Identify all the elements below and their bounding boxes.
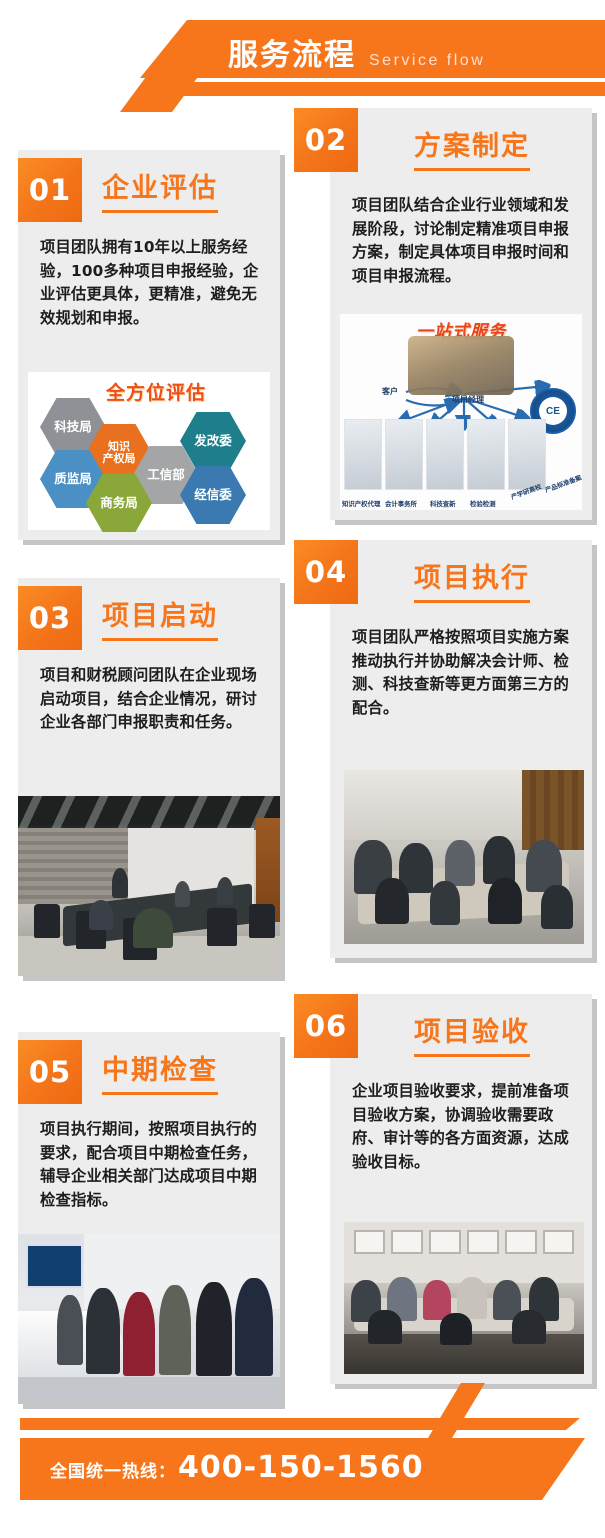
step-card-04[interactable]: 项目执行 项目团队严格按照项目实施方案推动执行并协助解决会计师、检测、科技查新等… bbox=[330, 540, 592, 958]
oss-team-photo bbox=[408, 336, 514, 395]
card-badge-04: 04 bbox=[294, 540, 358, 604]
wall-frames bbox=[354, 1230, 575, 1254]
card-title-06: 项目验收 bbox=[414, 1010, 530, 1057]
oss-label-1: 会计事务所 bbox=[385, 499, 417, 508]
card-body-02: 项目团队结合企业行业领域和发展阶段，讨论制定精准项目申报方案，制定具体项目申报时… bbox=[352, 194, 574, 289]
card-badge-03: 03 bbox=[18, 586, 82, 650]
footer-diagonal-accent bbox=[425, 1383, 590, 1443]
one-stop-service-diagram: 一站式服务 客户 项目经理 CE 知识产权代理 会计事务所 科技查新 检验检测 … bbox=[340, 314, 582, 510]
card-badge-01: 01 bbox=[18, 158, 82, 222]
oss-label-0: 知识产权代理 bbox=[342, 499, 380, 508]
card-body-05: 项目执行期间，按照项目执行的要求，配合项目中期检查任务，辅导企业相关部门达成项目… bbox=[40, 1118, 262, 1213]
conference-table-photo bbox=[344, 770, 584, 944]
card-badge-06: 06 bbox=[294, 994, 358, 1058]
acceptance-meeting-photo bbox=[344, 1222, 584, 1374]
exhibition-booth-photo bbox=[18, 1234, 280, 1404]
card-badge-02: 02 bbox=[294, 108, 358, 172]
page-subtitle: Service flow bbox=[369, 52, 485, 70]
hotline-number[interactable]: 400-150-1560 bbox=[178, 1450, 424, 1485]
card-title-01: 企业评估 bbox=[102, 166, 218, 213]
oss-thumb-3 bbox=[467, 419, 505, 490]
hex-evaluation-diagram: 全方位评估 科技局 知识产权局 发改委 质监局 工信部 商务局 经信委 bbox=[28, 372, 270, 530]
oss-label-2: 科技查新 bbox=[430, 499, 456, 508]
oss-thumb-2 bbox=[426, 419, 464, 490]
card-badge-05: 05 bbox=[18, 1040, 82, 1104]
card-title-04: 项目执行 bbox=[414, 556, 530, 603]
card-body-04: 项目团队严格按照项目实施方案推动执行并协助解决会计师、检测、科技查新等更方面第三… bbox=[352, 626, 574, 721]
page-footer: 全国统一热线： 400-150-1560 bbox=[0, 1418, 605, 1518]
card-body-01: 项目团队拥有10年以上服务经验，100多种项目申报经验，企业评估更具体，更精准，… bbox=[40, 236, 262, 331]
hotline-label: 全国统一热线： bbox=[50, 1457, 176, 1482]
card-title-05: 中期检查 bbox=[102, 1048, 218, 1095]
card-body-06: 企业项目验收要求，提前准备项目验收方案，协调验收需要政府、审计等的各方面资源，达… bbox=[352, 1080, 574, 1175]
card-body-03: 项目和财税顾问团队在企业现场启动项目，结合企业情况，研讨企业各部门申报职责和任务… bbox=[40, 664, 262, 735]
oss-thumb-1 bbox=[385, 419, 423, 490]
oss-thumb-4 bbox=[508, 419, 546, 490]
header-title-group: 服务流程 Service flow bbox=[228, 30, 485, 74]
oss-thumb-0 bbox=[344, 419, 382, 490]
page-title: 服务流程 bbox=[228, 30, 356, 74]
oss-label-3: 检验检测 bbox=[470, 499, 496, 508]
header-thin-stripe bbox=[155, 82, 605, 96]
card-title-02: 方案制定 bbox=[414, 124, 530, 171]
service-flow-infographic: 服务流程 Service flow 企业评估 项目团队拥有10年以上服务经验，1… bbox=[0, 0, 605, 1538]
card-title-03: 项目启动 bbox=[102, 594, 218, 641]
hotline-group: 全国统一热线： 400-150-1560 bbox=[50, 1450, 424, 1485]
oss-node-manager: 项目经理 bbox=[452, 394, 484, 405]
footer-thin-stripe bbox=[20, 1418, 580, 1430]
oss-node-customer: 客户 bbox=[382, 386, 398, 397]
page-header: 服务流程 Service flow bbox=[0, 0, 605, 112]
step-card-06[interactable]: 项目验收 企业项目验收要求，提前准备项目验收方案，协调验收需要政府、审计等的各方… bbox=[330, 994, 592, 1384]
hex-diagram-title: 全方位评估 bbox=[106, 378, 206, 405]
step-card-02[interactable]: 方案制定 项目团队结合企业行业领域和发展阶段，讨论制定精准项目申报方案，制定具体… bbox=[330, 108, 592, 520]
meeting-room-photo bbox=[18, 796, 280, 976]
